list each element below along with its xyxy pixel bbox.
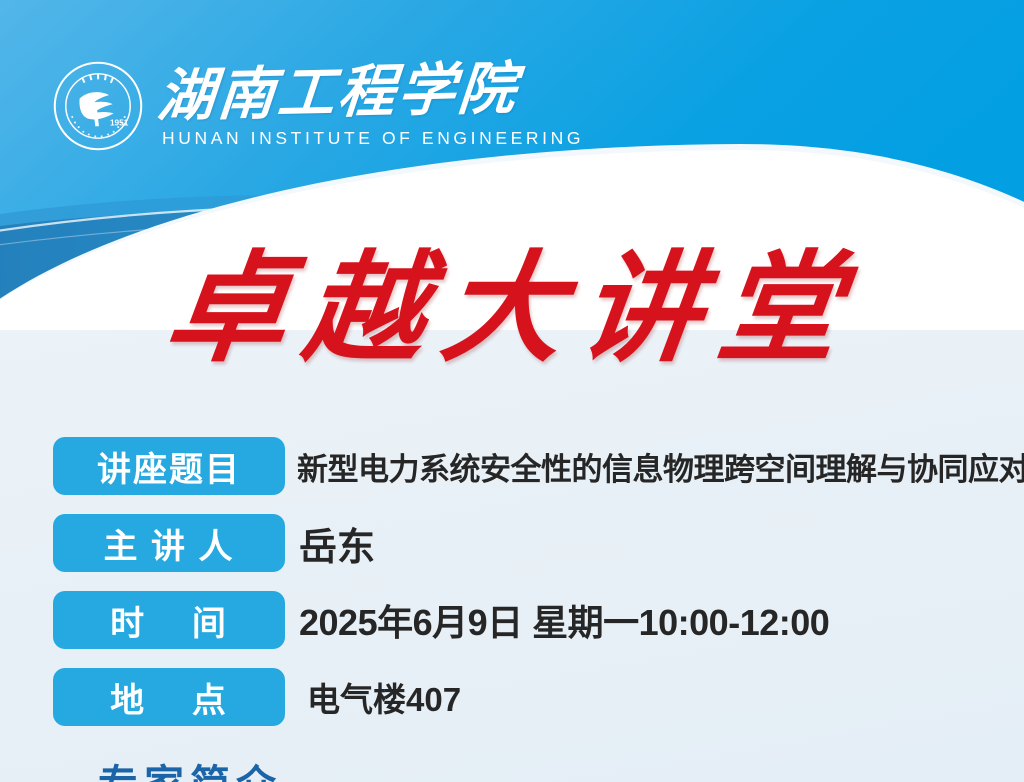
info-label-speaker: 主 讲 人 bbox=[53, 514, 285, 572]
info-row-topic: 讲座题目 新型电力系统安全性的信息物理跨空间理解与协同应对机制 bbox=[53, 437, 1003, 495]
info-label-time: 时 间 bbox=[53, 591, 285, 649]
university-emblem-icon: 1951 bbox=[52, 60, 144, 152]
lecture-poster: 1951 湖南工程学院 HUNAN INSTITUTE OF ENGINEERI… bbox=[0, 0, 1024, 782]
info-value-speaker: 岳东 bbox=[299, 516, 375, 571]
info-row-location: 地 点 电气楼407 bbox=[53, 668, 1003, 726]
expert-bio-section-heading: 专家简介 bbox=[98, 752, 282, 782]
university-logo-block: 1951 湖南工程学院 HUNAN INSTITUTE OF ENGINEERI… bbox=[52, 60, 584, 152]
info-value-location: 电气楼407 bbox=[307, 673, 461, 721]
info-value-time: 2025年6月9日 星期一10:00-12:00 bbox=[299, 594, 829, 646]
poster-main-title: 卓越大讲堂 bbox=[0, 244, 1024, 376]
emblem-year: 1951 bbox=[110, 118, 129, 127]
info-row-speaker: 主 讲 人 岳东 bbox=[53, 514, 1003, 572]
info-value-topic: 新型电力系统安全性的信息物理跨空间理解与协同应对机制 bbox=[297, 444, 1024, 489]
university-name-chinese: 湖南工程学院 bbox=[155, 60, 587, 126]
info-label-location: 地 点 bbox=[53, 668, 285, 726]
info-row-time: 时 间 2025年6月9日 星期一10:00-12:00 bbox=[53, 591, 1003, 649]
university-name-english: HUNAN INSTITUTE OF ENGINEERING bbox=[162, 130, 584, 148]
main-title-text: 卓越大讲堂 bbox=[159, 244, 865, 376]
info-label-topic: 讲座题目 bbox=[53, 437, 285, 495]
lecture-info-list: 讲座题目 新型电力系统安全性的信息物理跨空间理解与协同应对机制 主 讲 人 岳东… bbox=[53, 437, 1003, 745]
